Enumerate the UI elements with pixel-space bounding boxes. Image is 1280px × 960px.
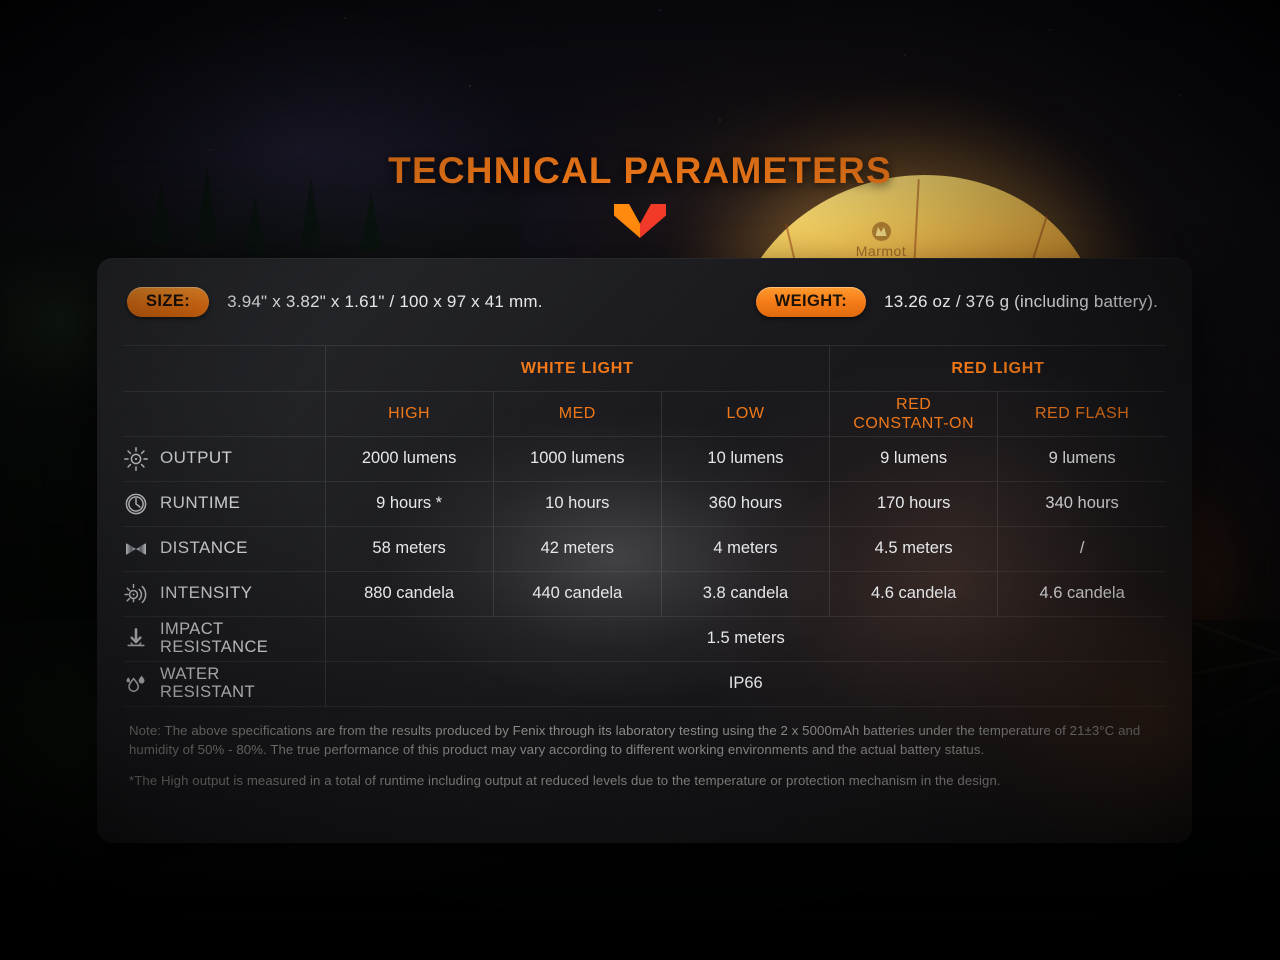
row-label-text: RUNTIME	[160, 494, 240, 512]
row-label-text-line1: WATER	[160, 665, 220, 683]
clock-icon	[123, 491, 149, 517]
group-label-white-light: WHITE LIGHT	[521, 360, 634, 377]
beam-icon	[123, 536, 149, 562]
note-primary: Note: The above specifications are from …	[129, 721, 1160, 759]
mode-header-spacer	[123, 391, 325, 436]
cell-output-low: 10 lumens	[661, 436, 829, 481]
row-label-text: INTENSITY	[160, 584, 252, 602]
size-badge: SIZE:	[127, 287, 209, 317]
cell-distance-high: 58 meters	[325, 526, 493, 571]
notes-block: Note: The above specifications are from …	[123, 707, 1166, 790]
cell-runtime-low: 360 hours	[661, 481, 829, 526]
page-title: TECHNICAL PARAMETERS	[0, 150, 1280, 192]
tent-brand-text: Marmot	[856, 243, 906, 259]
mode-label-red-constant-on-line2: CONSTANT-ON	[853, 415, 974, 432]
mode-label-high: HIGH	[388, 405, 430, 422]
mode-label-red-flash: RED FLASH	[1035, 405, 1129, 422]
cell-runtime-high: 9 hours *	[325, 481, 493, 526]
table-row: OUTPUT 2000 lumens 1000 lumens 10 lumens…	[123, 436, 1166, 481]
cell-intensity-med: 440 candela	[493, 571, 661, 616]
specifications-table: WHITE LIGHT RED LIGHT HIGH MED	[123, 346, 1166, 707]
group-header-red-light: RED LIGHT	[830, 346, 1166, 391]
size-weight-row: SIZE: 3.94" x 3.82" x 1.61" / 100 x 97 x…	[123, 258, 1166, 346]
cell-output-red-flash: 9 lumens	[998, 436, 1166, 481]
row-label-text-line2: RESISTANT	[160, 683, 255, 701]
cell-output-med: 1000 lumens	[493, 436, 661, 481]
row-label-text-line2: RESISTANCE	[160, 638, 268, 656]
title-block: TECHNICAL PARAMETERS	[0, 150, 1280, 238]
group-header-spacer	[123, 346, 325, 391]
group-label-red-light: RED LIGHT	[951, 360, 1044, 377]
table-row: RUNTIME 9 hours * 10 hours 360 hours 170…	[123, 481, 1166, 526]
note-footnote: *The High output is measured in a total …	[129, 771, 1160, 790]
table-row: INTENSITY 880 candela 440 candela 3.8 ca…	[123, 571, 1166, 616]
row-label-impact-resistance: IMPACT RESISTANCE	[123, 616, 325, 661]
row-label-intensity: INTENSITY	[123, 571, 325, 616]
weight-badge: WEIGHT:	[756, 287, 866, 317]
row-label-runtime: RUNTIME	[123, 481, 325, 526]
water-icon	[123, 671, 149, 697]
table-row: DISTANCE 58 meters 42 meters 4 meters 4.…	[123, 526, 1166, 571]
cell-impact-resistance-value: 1.5 meters	[325, 616, 1166, 661]
mode-header-low: LOW	[661, 391, 829, 436]
row-label-text-line1: IMPACT	[160, 620, 224, 638]
cell-runtime-red-flash: 340 hours	[998, 481, 1166, 526]
cell-water-resistant-value: IP66	[325, 661, 1166, 706]
cell-intensity-high: 880 candela	[325, 571, 493, 616]
mode-header-red-constant-on: RED CONSTANT-ON	[830, 391, 998, 436]
cell-distance-low: 4 meters	[661, 526, 829, 571]
cell-intensity-red-flash: 4.6 candela	[998, 571, 1166, 616]
cell-runtime-med: 10 hours	[493, 481, 661, 526]
table-row: IMPACT RESISTANCE 1.5 meters	[123, 616, 1166, 661]
mode-header-high: HIGH	[325, 391, 493, 436]
size-spec: SIZE: 3.94" x 3.82" x 1.61" / 100 x 97 x…	[127, 287, 543, 317]
cell-distance-red-flash: /	[998, 526, 1166, 571]
weight-spec: WEIGHT: 13.26 oz / 376 g (including batt…	[756, 287, 1162, 317]
intensity-icon	[123, 581, 149, 607]
cell-distance-red-constant-on: 4.5 meters	[830, 526, 998, 571]
cell-output-red-constant-on: 9 lumens	[830, 436, 998, 481]
mode-header-red-flash: RED FLASH	[998, 391, 1166, 436]
row-label-text: DISTANCE	[160, 539, 248, 557]
row-label-distance: DISTANCE	[123, 526, 325, 571]
mode-label-red-constant-on-line1: RED	[896, 396, 931, 413]
table-group-header-row: WHITE LIGHT RED LIGHT	[123, 346, 1166, 391]
chevron-down-icon	[614, 204, 666, 238]
specs-panel: SIZE: 3.94" x 3.82" x 1.61" / 100 x 97 x…	[97, 258, 1192, 843]
mode-header-med: MED	[493, 391, 661, 436]
cell-distance-med: 42 meters	[493, 526, 661, 571]
page-root: Marmot TECHNICAL PARAMETERS SIZE: 3.94" …	[0, 0, 1280, 960]
size-value: 3.94" x 3.82" x 1.61" / 100 x 97 x 41 mm…	[227, 292, 542, 312]
table-mode-header-row: HIGH MED LOW RED CONSTANT-ON	[123, 391, 1166, 436]
mode-label-low: LOW	[726, 405, 764, 422]
cell-runtime-red-constant-on: 170 hours	[830, 481, 998, 526]
cell-intensity-low: 3.8 candela	[661, 571, 829, 616]
weight-value: 13.26 oz / 376 g (including battery).	[884, 292, 1158, 312]
group-header-white-light: WHITE LIGHT	[325, 346, 830, 391]
row-label-output: OUTPUT	[123, 436, 325, 481]
cell-intensity-red-constant-on: 4.6 candela	[830, 571, 998, 616]
row-label-text: OUTPUT	[160, 449, 232, 467]
cell-output-high: 2000 lumens	[325, 436, 493, 481]
row-label-water-resistant: WATER RESISTANT	[123, 661, 325, 706]
impact-icon	[123, 626, 149, 652]
table-row: WATER RESISTANT IP66	[123, 661, 1166, 706]
sun-icon	[123, 446, 149, 472]
mode-label-med: MED	[559, 405, 596, 422]
